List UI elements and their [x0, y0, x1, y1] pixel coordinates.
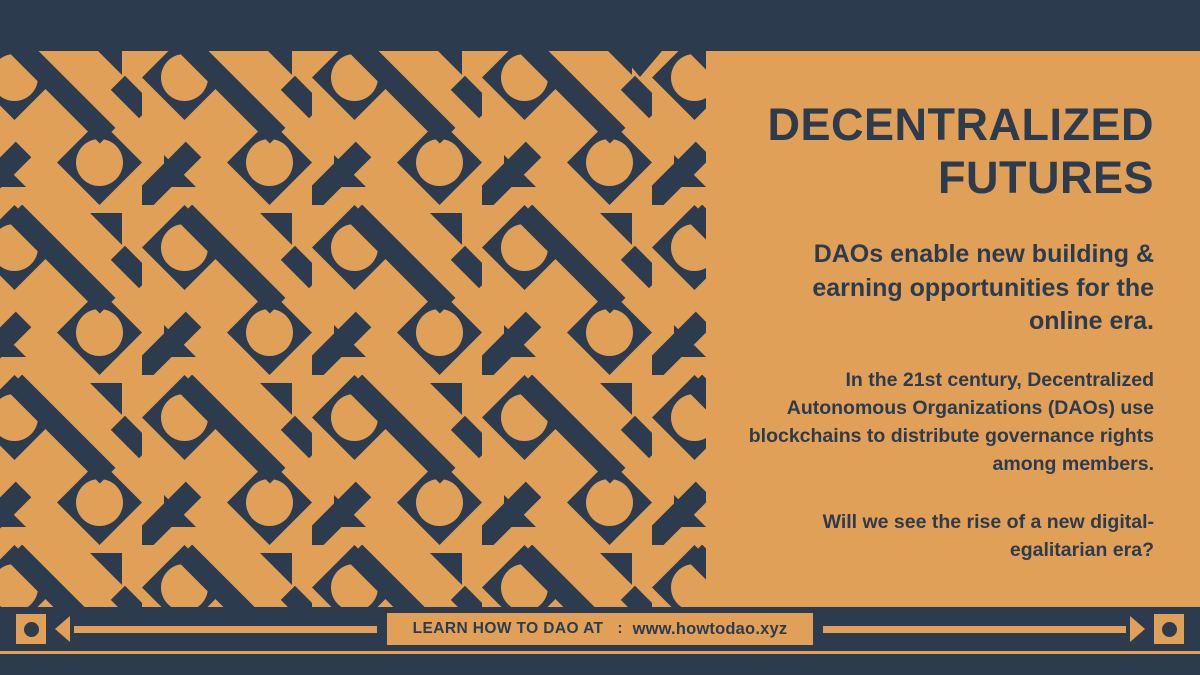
divider-line-right — [823, 626, 1126, 633]
divider-line-left — [74, 626, 377, 633]
subheadline: DAOs enable new building & earning oppor… — [734, 204, 1154, 338]
footer-underline — [0, 651, 1200, 654]
page-title: DECENTRALIZED FUTURES — [734, 51, 1154, 204]
text-column: DECENTRALIZED FUTURES DAOs enable new bu… — [734, 51, 1154, 607]
square-dot-left-icon — [16, 614, 46, 644]
poster-body: DECENTRALIZED FUTURES DAOs enable new bu… — [0, 51, 1200, 607]
cta-plate[interactable]: LEARN HOW TO DAO AT : www.howtodao.xyz — [387, 613, 814, 645]
dot-left-icon — [24, 622, 39, 637]
diagonal-diamond-circle-motif-icon — [0, 51, 716, 607]
square-dot-right-icon — [1154, 614, 1184, 644]
cta-url[interactable]: www.howtodao.xyz — [633, 620, 788, 639]
dot-right-icon — [1162, 622, 1177, 637]
footer-cta-row: LEARN HOW TO DAO AT : www.howtodao.xyz — [0, 607, 1200, 651]
headline-line-2: FUTURES — [938, 152, 1154, 203]
body-paragraph-1: In the 21st century, Decentralized Auton… — [734, 338, 1154, 478]
cta-separator: : — [603, 620, 632, 638]
poster-canvas: DECENTRALIZED FUTURES DAOs enable new bu… — [0, 0, 1200, 675]
headline-line-1: DECENTRALIZED — [768, 99, 1155, 150]
decorative-pattern-panel — [0, 51, 716, 607]
arrow-right-icon — [1130, 616, 1145, 642]
body-paragraph-2: Will we see the rise of a new digital-eg… — [734, 478, 1154, 564]
footer-bar: LEARN HOW TO DAO AT : www.howtodao.xyz — [0, 607, 1200, 675]
cta-label: LEARN HOW TO DAO AT — [413, 620, 604, 638]
arrow-left-icon — [55, 616, 70, 642]
